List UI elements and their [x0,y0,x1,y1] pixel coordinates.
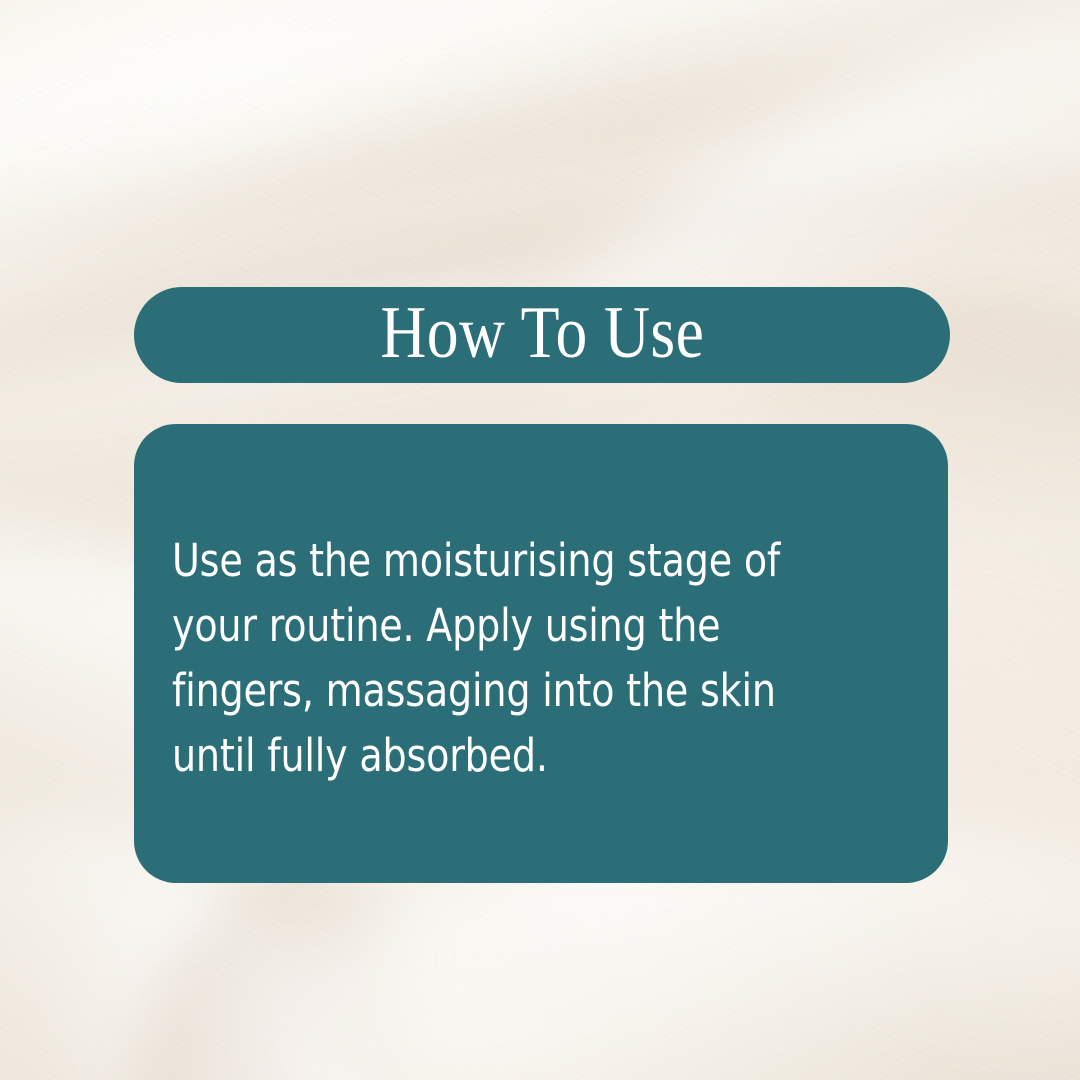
page-title: How To Use [380,296,704,370]
instructions-card: Use as the moisturising stage of your ro… [134,424,948,883]
instructions-body-text: Use as the moisturising stage of your ro… [172,528,864,788]
promo-card-canvas: How To Use Use as the moisturising stage… [0,0,1080,1080]
title-pill-banner: How To Use [134,287,950,383]
